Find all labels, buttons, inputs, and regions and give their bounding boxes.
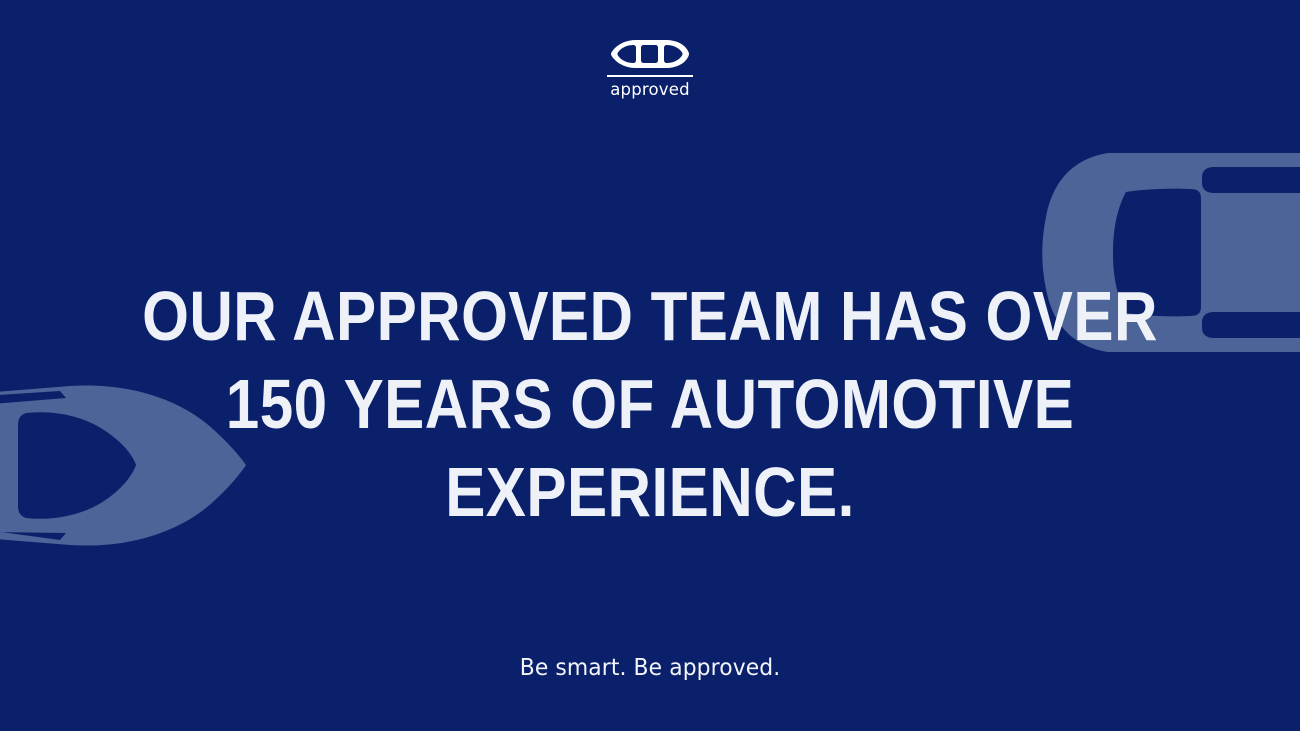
headline-line-1: OUR APPROVED TEAM HAS OVER	[91, 272, 1209, 360]
headline-line-3: EXPERIENCE.	[91, 448, 1209, 536]
car-top-view-icon	[610, 38, 690, 70]
promo-slide: approved OUR APPROVED TEAM HAS OVER 150 …	[0, 0, 1300, 731]
tagline: Be smart. Be approved.	[33, 655, 1268, 681]
brand-logo: approved	[0, 38, 1300, 99]
page-title: OUR APPROVED TEAM HAS OVER 150 YEARS OF …	[91, 272, 1209, 536]
brand-wordmark: approved	[610, 81, 690, 99]
brand-divider	[607, 75, 693, 77]
headline-line-2: 150 YEARS OF AUTOMOTIVE	[91, 360, 1209, 448]
